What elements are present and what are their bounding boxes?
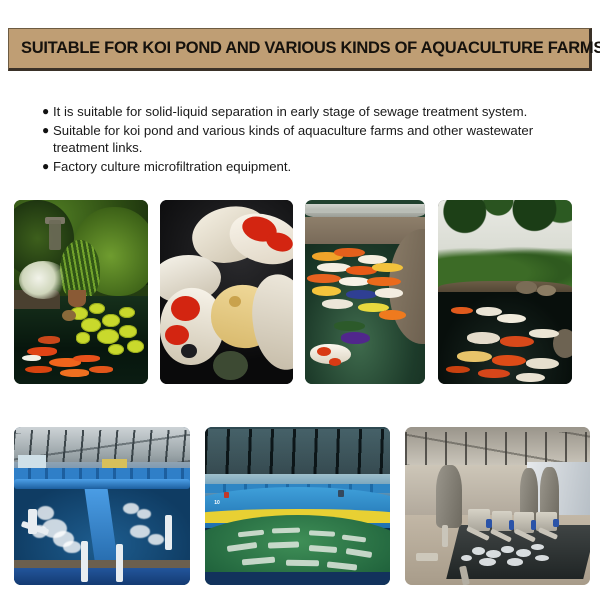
section-header-banner: SUITABLE FOR KOI POND AND VARIOUS KINDS … [8, 28, 592, 71]
bullet-icon: ● [42, 158, 53, 176]
page-title: SUITABLE FOR KOI POND AND VARIOUS KINDS … [9, 39, 600, 58]
bullet-icon: ● [42, 103, 53, 121]
bullet-icon: ● [42, 122, 53, 140]
feature-list: ● It is suitable for solid-liquid separa… [42, 103, 582, 176]
list-item-text: It is suitable for solid-liquid separati… [53, 103, 582, 121]
gallery-image-circular-raceway-pond: 10 [205, 427, 390, 585]
tank-number-label: 10 [214, 500, 220, 506]
gallery-image-indoor-fish-tanks [14, 427, 190, 585]
product-feature-page: SUITABLE FOR KOI POND AND VARIOUS KINDS … [0, 0, 600, 600]
list-item: ● Suitable for koi pond and various kind… [42, 122, 582, 157]
list-item-text: Factory culture microfiltration equipmen… [53, 158, 582, 176]
list-item: ● It is suitable for solid-liquid separa… [42, 103, 582, 121]
gallery-image-koi-closeup [160, 200, 293, 384]
gallery-image-water-treatment-equipment [405, 427, 590, 585]
gallery-image-circular-koi-pond [305, 200, 425, 384]
gallery-image-greenhouse-koi-pond [438, 200, 572, 384]
gallery-image-koi-garden-pond [14, 200, 148, 384]
list-item: ● Factory culture microfiltration equipm… [42, 158, 582, 176]
list-item-text: Suitable for koi pond and various kinds … [53, 122, 582, 157]
